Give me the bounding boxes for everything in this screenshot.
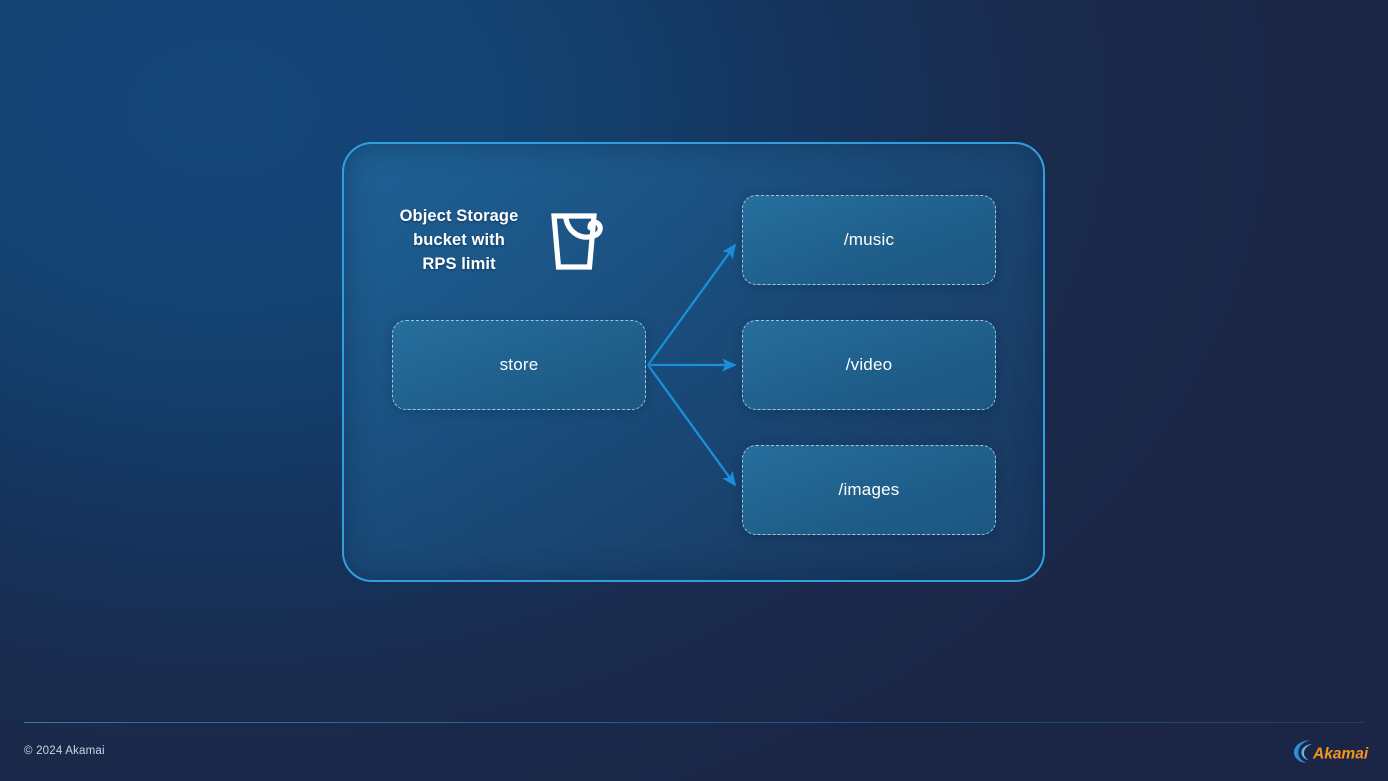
akamai-logo: Akamai (1292, 738, 1374, 765)
node-store-label: store (500, 355, 539, 375)
node-video[interactable]: /video (742, 320, 996, 410)
node-music-label: /music (844, 230, 894, 250)
copyright-text: © 2024 Akamai (24, 745, 105, 757)
node-images-label: /images (839, 480, 900, 500)
footer-divider (24, 722, 1364, 723)
bucket-icon (546, 203, 616, 277)
heading-group: Object Storage bucket with RPS limit (390, 198, 640, 282)
diagram-heading: Object Storage bucket with RPS limit (390, 204, 528, 277)
node-store[interactable]: store (392, 320, 646, 410)
slide-canvas: Object Storage bucket with RPS limit sto… (0, 0, 1388, 781)
node-video-label: /video (846, 355, 893, 375)
node-images[interactable]: /images (742, 445, 996, 535)
node-music[interactable]: /music (742, 195, 996, 285)
akamai-wordmark: Akamai (1312, 745, 1369, 762)
